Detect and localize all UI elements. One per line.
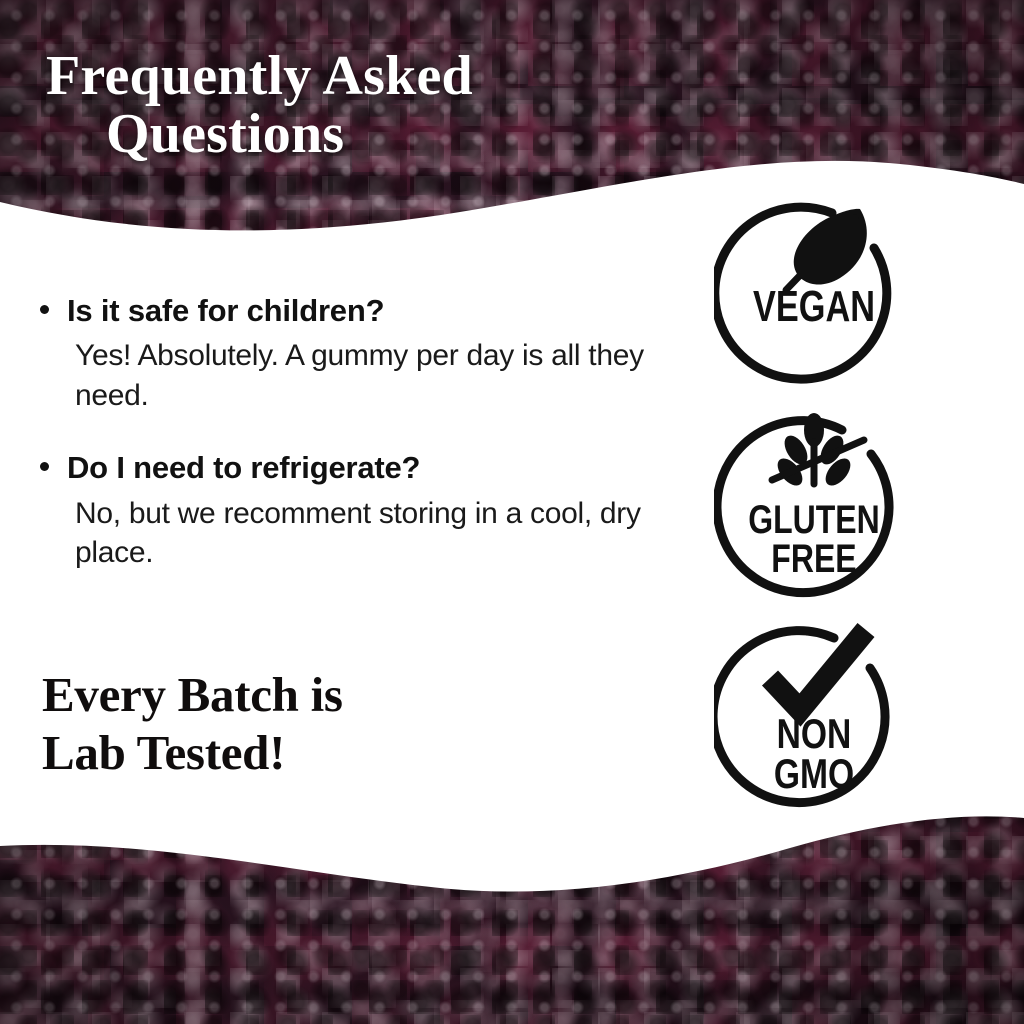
bullet-icon: [40, 305, 49, 314]
badge-non-gmo: NON GMO NON GMO: [714, 620, 914, 820]
faq-answer: Yes! Absolutely. A gummy per day is all …: [75, 336, 675, 415]
badge-vegan-label: VEGAN: [714, 396, 715, 397]
faq-question: Do I need to refrigerate?: [67, 449, 420, 486]
lab-tested-heading-line-1: Every Batch is: [42, 666, 343, 724]
badge-vegan: VEGAN VEGAN: [714, 196, 914, 396]
certification-badge-group: VEGAN VEGAN: [714, 196, 919, 820]
page-title-line-2: Questions: [46, 106, 473, 164]
bullet-icon: [40, 462, 49, 471]
faq-answer: No, but we recomment storing in a cool, …: [75, 494, 675, 573]
lab-tested-heading: Every Batch is Lab Tested!: [42, 666, 343, 782]
faq-question: Is it safe for children?: [67, 292, 384, 329]
leaf-icon: [786, 209, 867, 290]
lab-tested-heading-line-2: Lab Tested!: [42, 724, 343, 782]
faq-question-row: Is it safe for children?: [40, 292, 680, 329]
faq-item: Is it safe for children? Yes! Absolutely…: [40, 292, 680, 415]
faq-infographic-card: Frequently Asked Questions Is it safe fo…: [0, 0, 1024, 1024]
badge-gluten-label-2: FREE: [714, 608, 715, 609]
page-title: Frequently Asked Questions: [46, 48, 473, 163]
badge-gluten-label-1: GLUTEN: [714, 608, 715, 609]
badge-gluten-free: GLUTEN FREE GLUTEN FREE: [714, 408, 914, 608]
badge-text-vegan: VEGAN: [753, 282, 875, 331]
badge-text-gmo: GMO: [774, 752, 854, 798]
page-title-line-1: Frequently Asked: [46, 45, 473, 107]
faq-item: Do I need to refrigerate? No, but we rec…: [40, 449, 680, 572]
badge-text-free: FREE: [771, 536, 856, 581]
faq-question-row: Do I need to refrigerate?: [40, 449, 680, 486]
faq-list: Is it safe for children? Yes! Absolutely…: [40, 292, 680, 607]
checkmark-icon: [770, 630, 866, 710]
